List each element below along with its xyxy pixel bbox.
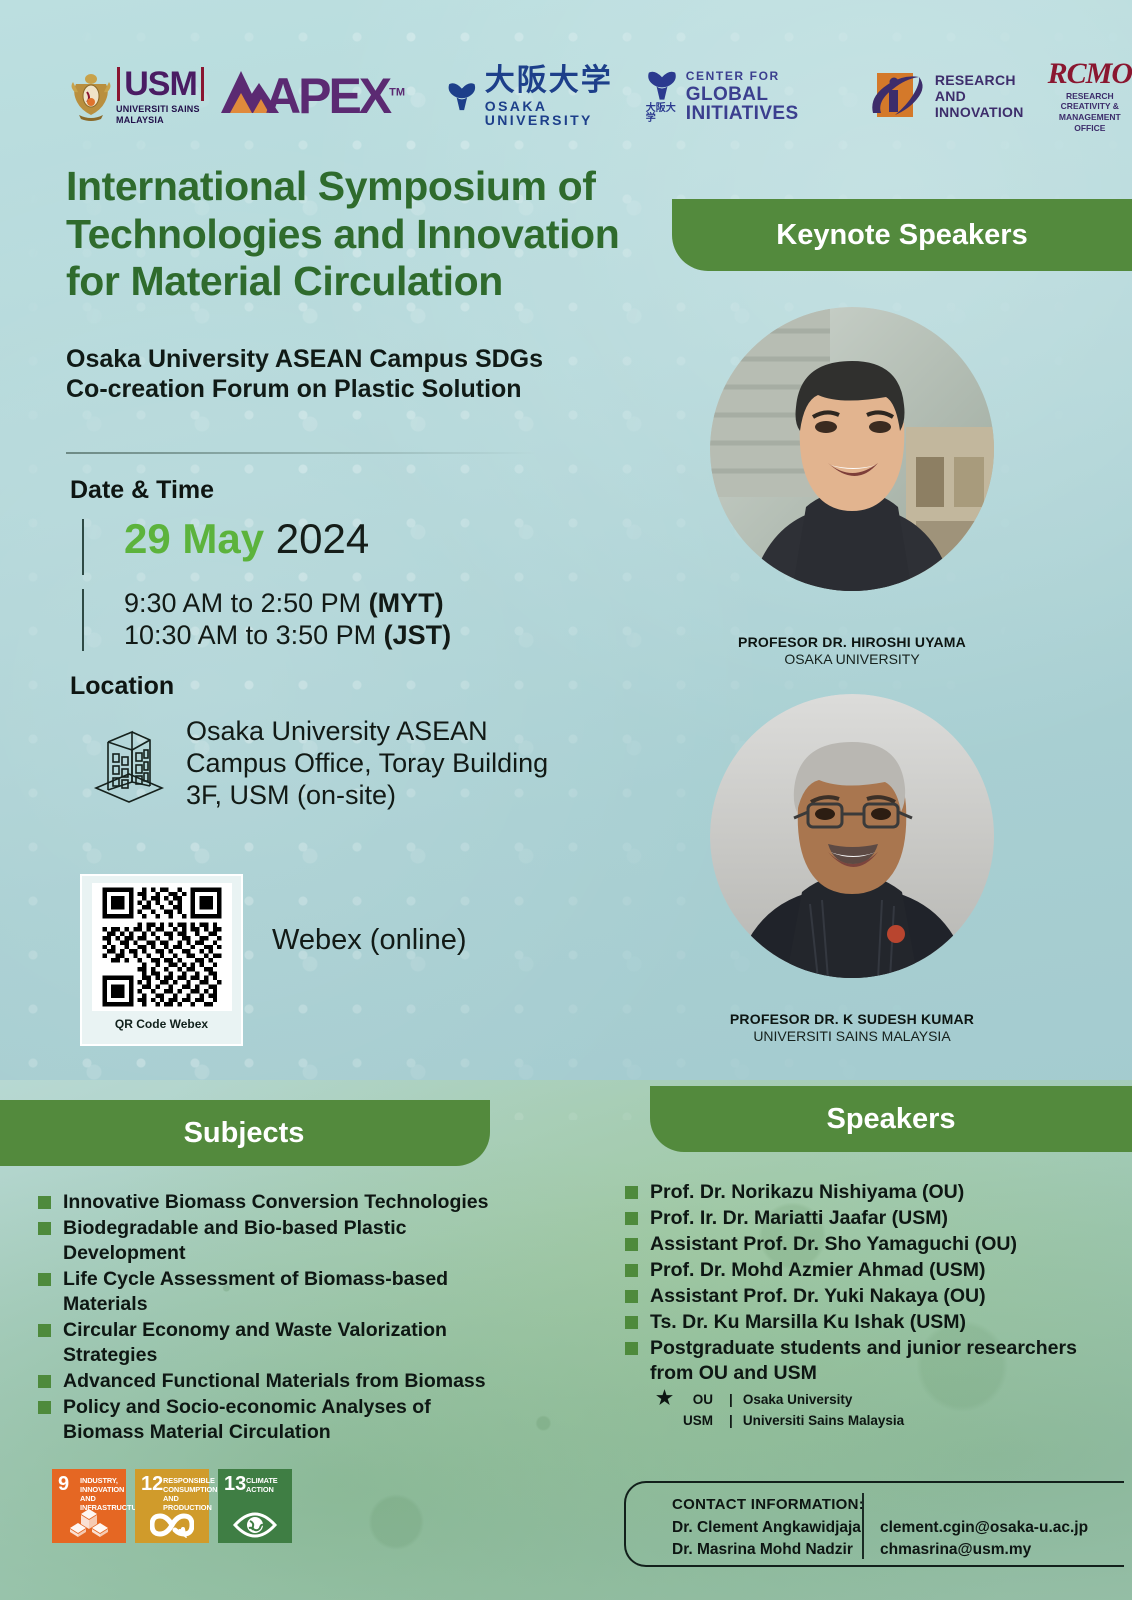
list-item-label: Assistant Prof. Dr. Yuki Nakaya (OU) xyxy=(650,1284,986,1309)
keynote-speaker-2-org: UNIVERSITI SAINS MALAYSIA xyxy=(622,1028,1082,1046)
speakers-banner: Speakers xyxy=(650,1086,1132,1152)
apex-wordmark: APEXTM xyxy=(265,71,405,121)
page-title: International Symposium of Technologies … xyxy=(66,163,636,306)
keynote-speakers-banner: Keynote Speakers xyxy=(672,199,1132,271)
contact-heading: CONTACT INFORMATION: xyxy=(672,1497,864,1512)
event-time-jst: 10:30 AM to 3:50 PM (JST) xyxy=(124,620,451,652)
cgi-line1: CENTER FOR xyxy=(686,70,833,82)
datetime-heading: Date & Time xyxy=(70,478,214,503)
osaka-university-japanese: 大阪大学 xyxy=(485,66,616,96)
research-and-innovation-logo: RESEARCH AND INNOVATION xyxy=(867,67,1024,125)
star-icon: ★ xyxy=(656,1389,673,1408)
event-time-myt: 9:30 AM to 2:50 PM (MYT) xyxy=(124,588,444,620)
list-item-label: Policy and Socio-economic Analyses of Bi… xyxy=(63,1395,500,1445)
keynote-speaker-2-photo xyxy=(710,694,995,979)
bullet-icon xyxy=(625,1264,638,1277)
sdg-caption: RESPONSIBLE CONSUMPTION AND PRODUCTION xyxy=(163,1476,207,1512)
bullet-icon xyxy=(625,1316,638,1329)
legend-value: Universiti Sains Malaysia xyxy=(743,1411,910,1430)
sdg-tile-9: 9INDUSTRY, INNOVATION AND INFRASTRUCTURE xyxy=(52,1469,126,1543)
qr-code-image xyxy=(92,883,232,1011)
event-time-myt-zone: (MYT) xyxy=(369,588,444,618)
event-date: 29 May 2024 xyxy=(124,516,369,562)
bullet-icon xyxy=(625,1238,638,1251)
apex-logo: APEXTM xyxy=(221,71,405,121)
sdg-icons: 9INDUSTRY, INNOVATION AND INFRASTRUCTURE… xyxy=(52,1469,292,1543)
osaka-university-logo: 大阪大学 OSAKA UNIVERSITY xyxy=(447,66,616,127)
sdg-number: 12 xyxy=(141,1474,163,1494)
center-for-global-initiatives-logo: 大阪大学 CENTER FOR GLOBAL INITIATIVES xyxy=(646,68,833,124)
sdg-caption: CLIMATE ACTION xyxy=(246,1476,290,1494)
webex-label: Webex (online) xyxy=(272,923,467,958)
list-item: Innovative Biomass Conversion Technologi… xyxy=(38,1190,500,1215)
contact-names: Dr. Clement Angkawidjaja Dr. Masrina Moh… xyxy=(672,1517,861,1561)
list-item: Advanced Functional Materials from Bioma… xyxy=(38,1369,500,1394)
legend-rows: OU|Osaka UniversityUSM|Universiti Sains … xyxy=(683,1390,910,1430)
contact-emails[interactable]: clement.cgin@osaka-u.ac.jp chmasrina@usm… xyxy=(880,1517,1088,1561)
list-item-label: Circular Economy and Waste Valorization … xyxy=(63,1318,500,1368)
list-item-label: Advanced Functional Materials from Bioma… xyxy=(63,1369,486,1394)
osaka-university-english: OSAKA UNIVERSITY xyxy=(485,99,616,127)
title-divider xyxy=(66,452,536,454)
building-icon xyxy=(88,716,170,808)
abbreviation-legend: ★ OU|Osaka UniversityUSM|Universiti Sain… xyxy=(656,1388,912,1432)
keynote-speaker-1-org: OSAKA UNIVERSITY xyxy=(622,651,1082,669)
ri-wordmark: RESEARCH AND INNOVATION xyxy=(935,72,1024,120)
partner-logo-bar: USM UNIVERSITI SAINS MALAYSIA APEXTM xyxy=(0,56,1132,136)
location-address: Osaka University ASEAN Campus Office, To… xyxy=(186,716,586,812)
bullet-icon xyxy=(625,1290,638,1303)
subjects-banner: Subjects xyxy=(0,1100,490,1166)
cubes-icon xyxy=(52,1508,126,1538)
speakers-list: Prof. Dr. Norikazu Nishiyama (OU)Prof. I… xyxy=(625,1180,1103,1387)
list-item-label: Prof. Ir. Dr. Mariatti Jaafar (USM) xyxy=(650,1206,948,1231)
event-time-myt-range: 9:30 AM to 2:50 PM xyxy=(124,588,369,618)
ri-swoosh-icon xyxy=(867,67,927,125)
list-item-label: Innovative Biomass Conversion Technologi… xyxy=(63,1190,489,1215)
list-item-label: Prof. Dr. Norikazu Nishiyama (OU) xyxy=(650,1180,964,1205)
infinity-icon xyxy=(135,1512,209,1538)
osaka-university-mark-icon xyxy=(447,74,477,118)
subjects-list: Innovative Biomass Conversion Technologi… xyxy=(38,1190,500,1446)
legend-separator: | xyxy=(721,1411,741,1430)
keynote-speaker-1-name: PROFESOR DR. HIROSHI UYAMA xyxy=(622,634,1082,652)
cgi-mark-icon xyxy=(646,68,678,102)
list-item: Life Cycle Assessment of Biomass-based M… xyxy=(38,1267,500,1317)
sdg-number: 13 xyxy=(224,1474,246,1494)
list-item: Ts. Dr. Ku Marsilla Ku Ishak (USM) xyxy=(625,1310,1103,1335)
usm-caption: UNIVERSITI SAINS MALAYSIA xyxy=(116,104,205,126)
qr-code-card[interactable]: QR Code Webex xyxy=(80,874,243,1046)
bullet-icon xyxy=(38,1196,51,1209)
contact-divider xyxy=(862,1493,864,1559)
bullet-icon xyxy=(625,1186,638,1199)
eye-earth-icon xyxy=(218,1512,292,1538)
rcmo-logo: RCMO RESEARCH CREATIVITY & MANAGEMENT OF… xyxy=(1048,59,1132,134)
keynote-speaker-2-name: PROFESOR DR. K SUDESH KUMAR xyxy=(622,1011,1082,1029)
cgi-line2: GLOBAL INITIATIVES xyxy=(686,85,833,123)
legend-value: Osaka University xyxy=(743,1390,910,1409)
bullet-icon xyxy=(625,1212,638,1225)
list-item-label: Biodegradable and Bio-based Plastic Deve… xyxy=(63,1216,500,1266)
cgi-japanese: 大阪大学 xyxy=(646,104,678,124)
usm-logo: USM UNIVERSITI SAINS MALAYSIA xyxy=(68,67,205,126)
sdg-caption: INDUSTRY, INNOVATION AND INFRASTRUCTURE xyxy=(80,1476,124,1512)
bullet-icon xyxy=(38,1375,51,1388)
usm-crest-icon xyxy=(68,70,114,122)
sdg-number: 9 xyxy=(58,1474,69,1494)
event-time-jst-zone: (JST) xyxy=(384,620,452,650)
list-item: Postgraduate students and junior researc… xyxy=(625,1336,1103,1386)
list-item-label: Life Cycle Assessment of Biomass-based M… xyxy=(63,1267,500,1317)
keynote-speaker-1-photo xyxy=(710,307,995,592)
sdg-tile-12: 12RESPONSIBLE CONSUMPTION AND PRODUCTION xyxy=(135,1469,209,1543)
rcmo-caption: RESEARCH CREATIVITY & MANAGEMENT OFFICE xyxy=(1048,91,1132,134)
location-heading: Location xyxy=(70,674,174,699)
list-item: Prof. Dr. Mohd Azmier Ahmad (USM) xyxy=(625,1258,1103,1283)
legend-separator: | xyxy=(721,1390,741,1409)
legend-table: OU|Osaka UniversityUSM|Universiti Sains … xyxy=(681,1388,912,1432)
list-item-label: Prof. Dr. Mohd Azmier Ahmad (USM) xyxy=(650,1258,985,1283)
list-item: Circular Economy and Waste Valorization … xyxy=(38,1318,500,1368)
list-item: Prof. Dr. Norikazu Nishiyama (OU) xyxy=(625,1180,1103,1205)
list-item: Prof. Ir. Dr. Mariatti Jaafar (USM) xyxy=(625,1206,1103,1231)
usm-wordmark: USM xyxy=(117,67,204,101)
bullet-icon xyxy=(38,1324,51,1337)
datetime-accent-bar-2 xyxy=(82,589,84,651)
legend-row: OU|Osaka University xyxy=(683,1390,910,1409)
page-subtitle: Osaka University ASEAN Campus SDGs Co-cr… xyxy=(66,345,586,404)
sdg-tile-13: 13CLIMATE ACTION xyxy=(218,1469,292,1543)
event-time-jst-range: 10:30 AM to 3:50 PM xyxy=(124,620,384,650)
bullet-icon xyxy=(38,1222,51,1235)
list-item-label: Postgraduate students and junior researc… xyxy=(650,1336,1103,1386)
legend-key: OU xyxy=(683,1390,719,1409)
datetime-accent-bar-1 xyxy=(82,519,84,575)
bullet-icon xyxy=(625,1342,638,1355)
list-item-label: Assistant Prof. Dr. Sho Yamaguchi (OU) xyxy=(650,1232,1017,1257)
bullet-icon xyxy=(38,1401,51,1414)
list-item-label: Ts. Dr. Ku Marsilla Ku Ishak (USM) xyxy=(650,1310,966,1335)
legend-key: USM xyxy=(683,1411,719,1430)
qr-code-caption: QR Code Webex xyxy=(115,1018,208,1030)
list-item: Biodegradable and Bio-based Plastic Deve… xyxy=(38,1216,500,1266)
list-item: Assistant Prof. Dr. Yuki Nakaya (OU) xyxy=(625,1284,1103,1309)
event-year: 2024 xyxy=(276,515,369,562)
rcmo-wordmark: RCMO xyxy=(1048,59,1132,89)
bullet-icon xyxy=(38,1273,51,1286)
list-item: Policy and Socio-economic Analyses of Bi… xyxy=(38,1395,500,1445)
legend-row: USM|Universiti Sains Malaysia xyxy=(683,1411,910,1430)
poster: USM UNIVERSITI SAINS MALAYSIA APEXTM xyxy=(0,0,1132,1600)
list-item: Assistant Prof. Dr. Sho Yamaguchi (OU) xyxy=(625,1232,1103,1257)
event-day-month: 29 May xyxy=(124,515,264,562)
